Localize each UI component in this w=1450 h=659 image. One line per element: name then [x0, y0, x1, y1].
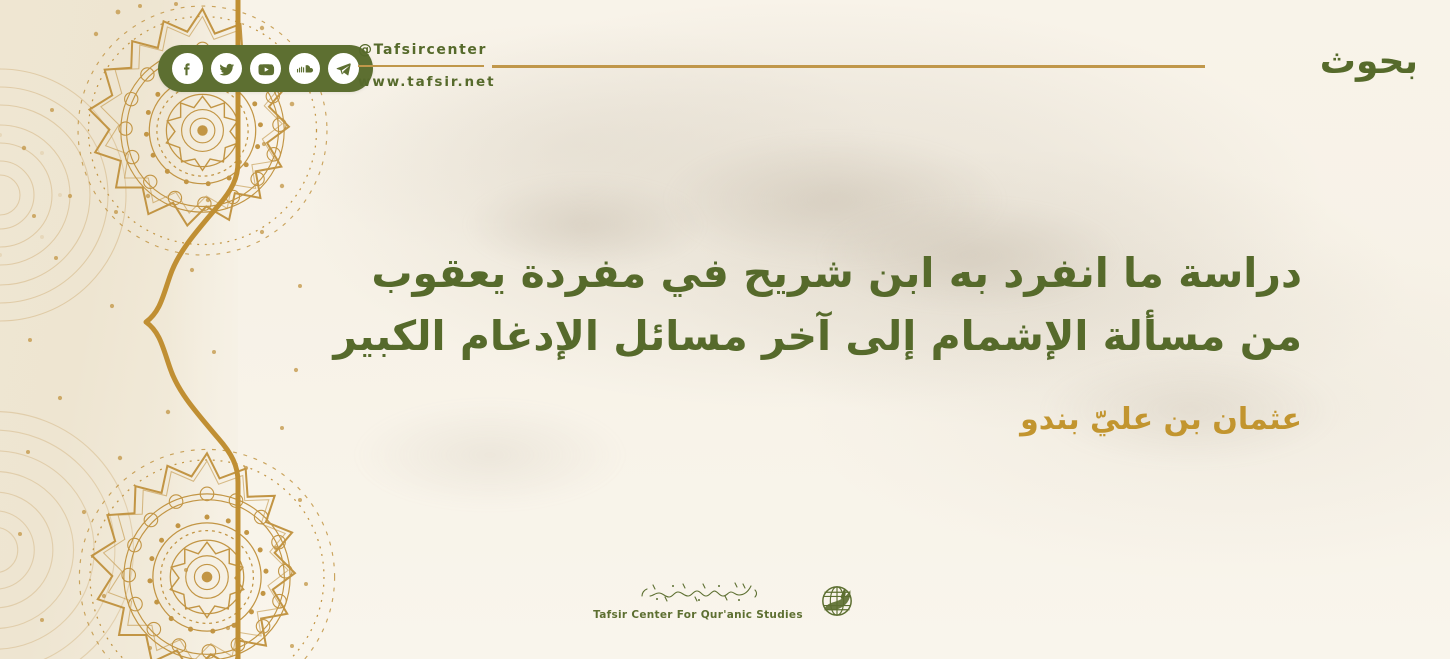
- author-name: عثمان بن عليّ بندو: [302, 398, 1302, 442]
- research-card: @Tafsircenter www.tafsir.net بحوث دراسة …: [0, 0, 1450, 659]
- account-info: @Tafsircenter www.tafsir.net: [358, 40, 495, 91]
- globe-icon: [817, 581, 857, 621]
- logo-wordmark: Tafsir Center For Qur'anic Studies: [593, 580, 803, 621]
- tafsir-center-logo: Tafsir Center For Qur'anic Studies: [0, 580, 1450, 621]
- page-title: دراسة ما انفرد به ابن شريح في مفردة يعقو…: [302, 242, 1302, 368]
- website-url: www.tafsir.net: [358, 73, 495, 91]
- twitter-icon[interactable]: [211, 53, 242, 84]
- youtube-icon[interactable]: [250, 53, 281, 84]
- mandala-bottom: [62, 432, 352, 659]
- logo-english-text: Tafsir Center For Qur'anic Studies: [593, 609, 803, 621]
- title-line-1: دراسة ما انفرد به ابن شريح في مفردة يعقو…: [302, 242, 1302, 305]
- logo-arabic-calligraphy: [639, 580, 757, 606]
- facebook-icon[interactable]: [172, 53, 203, 84]
- mandala-top: [60, 0, 345, 273]
- category-rule: [492, 65, 1205, 68]
- handle-divider: [358, 65, 484, 67]
- category-label: بحوث: [1320, 38, 1418, 86]
- social-links-bar[interactable]: [158, 45, 373, 92]
- telegram-icon[interactable]: [328, 53, 359, 84]
- soundcloud-icon[interactable]: [289, 53, 320, 84]
- account-handle: @Tafsircenter: [358, 40, 495, 60]
- title-line-2: من مسألة الإشمام إلى آخر مسائل الإدغام ا…: [302, 305, 1302, 368]
